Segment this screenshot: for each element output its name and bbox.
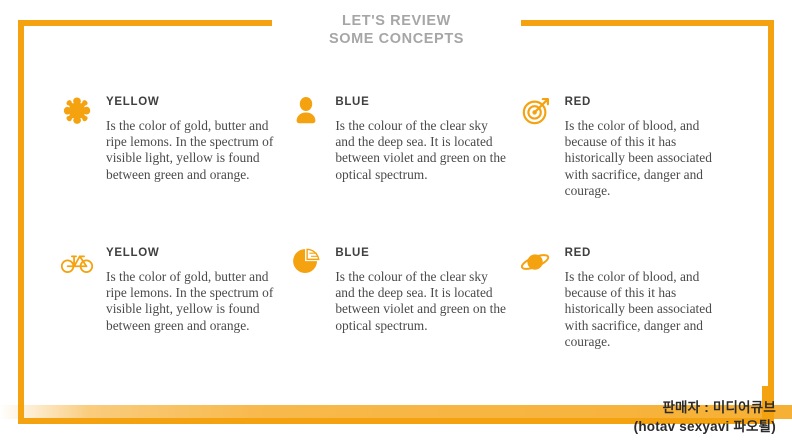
- concept-heading: BLUE: [335, 96, 506, 109]
- slide-canvas: LET'S REVIEW SOME CONCEPTS YELLOW Is the…: [0, 0, 792, 446]
- user-person-icon: [289, 94, 323, 128]
- concept-body: YELLOW Is the color of gold, butter and …: [106, 247, 277, 334]
- concept-item-yellow-bicycle[interactable]: YELLOW Is the color of gold, butter and …: [60, 247, 277, 350]
- concept-text: Is the colour of the clear sky and the d…: [335, 118, 506, 183]
- concept-item-red-planet[interactable]: RED Is the color of blood, and because o…: [519, 247, 736, 350]
- concept-heading: BLUE: [335, 247, 506, 260]
- concept-heading: YELLOW: [106, 96, 277, 109]
- concept-item-yellow-puzzle[interactable]: YELLOW Is the color of gold, butter and …: [60, 96, 277, 199]
- frame-border-left: [18, 20, 24, 424]
- watermark-line-1: 판매자 : 미디어큐브: [634, 398, 776, 417]
- concept-body: RED Is the color of blood, and because o…: [565, 247, 736, 350]
- concept-text: Is the colour of the clear sky and the d…: [335, 269, 506, 334]
- concept-heading: RED: [565, 96, 736, 109]
- concept-body: BLUE Is the colour of the clear sky and …: [335, 96, 506, 183]
- frame-border-right: [768, 20, 774, 424]
- slide-title-line-1: LET'S REVIEW: [272, 12, 521, 30]
- concepts-row-2: YELLOW Is the color of gold, butter and …: [60, 247, 736, 350]
- concept-item-blue-pie[interactable]: BLUE Is the colour of the clear sky and …: [289, 247, 506, 350]
- planet-saturn-icon: [519, 245, 553, 279]
- concepts-grid: YELLOW Is the color of gold, butter and …: [60, 96, 736, 350]
- slide-title: LET'S REVIEW SOME CONCEPTS: [272, 12, 521, 48]
- concept-item-blue-user[interactable]: BLUE Is the colour of the clear sky and …: [289, 96, 506, 199]
- concept-text: Is the color of gold, butter and ripe le…: [106, 118, 277, 183]
- watermark-text: 판매자 : 미디어큐브 (hotav sexyavi 파오퇼): [634, 398, 776, 436]
- concept-heading: YELLOW: [106, 247, 277, 260]
- concept-item-red-target[interactable]: RED Is the color of blood, and because o…: [519, 96, 736, 199]
- frame-border-top-left: [18, 20, 272, 26]
- bicycle-icon: [60, 245, 94, 279]
- target-dartboard-icon: [519, 94, 553, 128]
- concept-body: BLUE Is the colour of the clear sky and …: [335, 247, 506, 334]
- concept-heading: RED: [565, 247, 736, 260]
- concept-text: Is the color of blood, and because of th…: [565, 269, 736, 350]
- concepts-row-1: YELLOW Is the color of gold, butter and …: [60, 96, 736, 199]
- concept-text: Is the color of gold, butter and ripe le…: [106, 269, 277, 334]
- concept-body: YELLOW Is the color of gold, butter and …: [106, 96, 277, 183]
- watermark-line-2: (hotav sexyavi 파오퇼): [634, 417, 776, 436]
- slide-title-line-2: SOME CONCEPTS: [272, 30, 521, 48]
- frame-border-top-right: [521, 20, 774, 26]
- concept-body: RED Is the color of blood, and because o…: [565, 96, 736, 199]
- pie-chart-icon: [289, 245, 323, 279]
- puzzle-piece-icon: [60, 94, 94, 128]
- concept-text: Is the color of blood, and because of th…: [565, 118, 736, 199]
